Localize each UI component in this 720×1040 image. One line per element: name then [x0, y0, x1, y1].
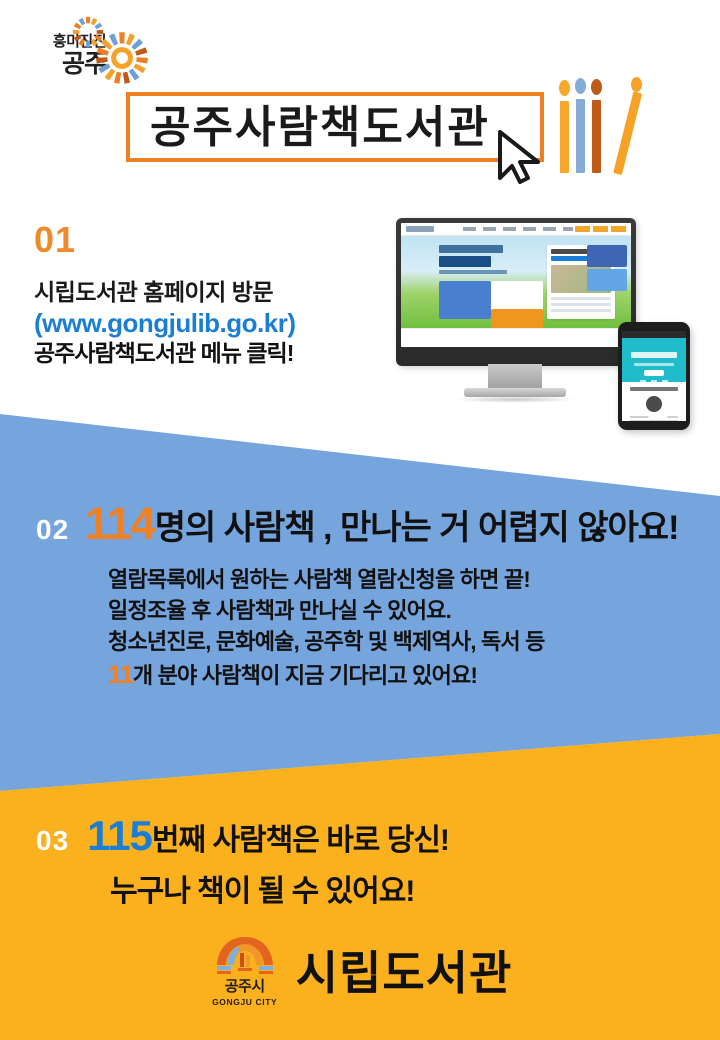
avatar — [646, 396, 662, 412]
step-01-line-3: 공주사람책도서관 메뉴 클릭! — [34, 339, 384, 369]
step-02-heading: 02 114 명의 사람책 , 만나는 거 어렵지 않아요! — [36, 498, 696, 550]
cursor-arrow-icon — [494, 128, 546, 186]
poster-canvas: 흥미진진 공주 — [0, 0, 720, 1040]
step-03-heading: 03 115 번째 사람책은 바로 당신! — [36, 812, 676, 860]
step-02-block: 02 114 명의 사람책 , 만나는 거 어렵지 않아요! 열람목록에서 원하… — [36, 498, 696, 693]
desktop-monitor-icon — [396, 218, 636, 366]
step-02-line-2: 일정조율 후 사람책과 만나실 수 있어요. — [108, 595, 696, 626]
step-01-number: 01 — [34, 222, 384, 258]
pencil-tip-dot-icon — [631, 77, 642, 92]
step-02-number: 02 — [36, 514, 69, 546]
book-spine-darkorange — [592, 100, 601, 173]
website-side-card-bottom — [587, 269, 627, 291]
page-title: 공주사람책도서관 — [150, 98, 530, 158]
website-nav-bar — [401, 223, 631, 236]
step-03-count: 115 — [87, 812, 152, 860]
step-01-website-url[interactable]: (www.gongjulib.go.kr) — [34, 307, 384, 340]
step-02-count: 114 — [85, 498, 155, 550]
step-01-block: 01 시립도서관 홈페이지 방문 (www.gongjulib.go.kr) 공… — [34, 222, 384, 369]
footer-library-name: 시립도서관 — [296, 950, 513, 996]
step-01-lines: 시립도서관 홈페이지 방문 (www.gongjulib.go.kr) 공주사람… — [34, 278, 384, 369]
footer-city-name-en: GONGJU CITY — [208, 997, 282, 1007]
book-spine-dot-darkorange — [591, 79, 602, 95]
book-spine-yellow — [560, 101, 569, 173]
footer-city-name-kr: 공주시 — [208, 979, 282, 995]
book-spine-dot-blue — [575, 78, 586, 94]
step-02-heading-text: 명의 사람책 , 만나는 거 어렵지 않아요! — [155, 500, 679, 549]
gongju-city-arch-emblem-icon: 공주시 GONGJU CITY — [208, 933, 282, 1013]
footer-library-logo: 공주시 GONGJU CITY 시립도서관 — [0, 930, 720, 1016]
step-03-heading-text: 번째 사람책은 바로 당신! — [152, 815, 449, 859]
website-footer — [401, 328, 631, 347]
phone-screen — [622, 331, 686, 421]
step-01-line-1: 시립도서관 홈페이지 방문 — [34, 278, 384, 307]
phone-app-header — [622, 338, 686, 382]
step-03-number: 03 — [36, 825, 69, 857]
step-02-line-4-rest: 개 분야 사람책이 지금 기다리고 있어요! — [133, 663, 477, 688]
sunburst-icon-large — [94, 30, 150, 86]
book-spines-decoration — [549, 68, 649, 173]
pencil-icon — [613, 91, 642, 175]
device-mockup-group — [392, 212, 710, 422]
step-03-line-2: 누구나 책이 될 수 있어요! — [110, 866, 676, 910]
website-card-blue — [439, 281, 491, 319]
monitor-shadow — [454, 396, 576, 403]
website-hero-text — [439, 245, 515, 275]
step-02-line-3: 청소년진로, 문화예술, 공주학 및 백제역사, 독서 등 — [108, 626, 696, 657]
book-spine-blue — [576, 99, 585, 173]
step-02-body: 열람목록에서 원하는 사람책 열람신청을 하면 끝! 일정조율 후 사람책과 만… — [108, 564, 696, 693]
step-02-field-count: 11 — [108, 661, 133, 689]
step-03-block: 03 115 번째 사람책은 바로 당신! 누구나 책이 될 수 있어요! — [36, 812, 676, 910]
book-spine-dot-yellow — [559, 80, 570, 96]
monitor-screen — [401, 223, 631, 347]
step-02-line-1: 열람목록에서 원하는 사람책 열람신청을 하면 끝! — [108, 564, 696, 595]
monitor-stand-neck — [488, 364, 542, 390]
step-02-line-4: 11개 분야 사람책이 지금 기다리고 있어요! — [108, 658, 696, 694]
mobile-phone-icon — [618, 322, 690, 430]
brand-city: 공주 — [14, 52, 106, 77]
website-side-card-top — [587, 245, 627, 267]
brand-logo: 흥미진진 공주 — [14, 12, 164, 98]
